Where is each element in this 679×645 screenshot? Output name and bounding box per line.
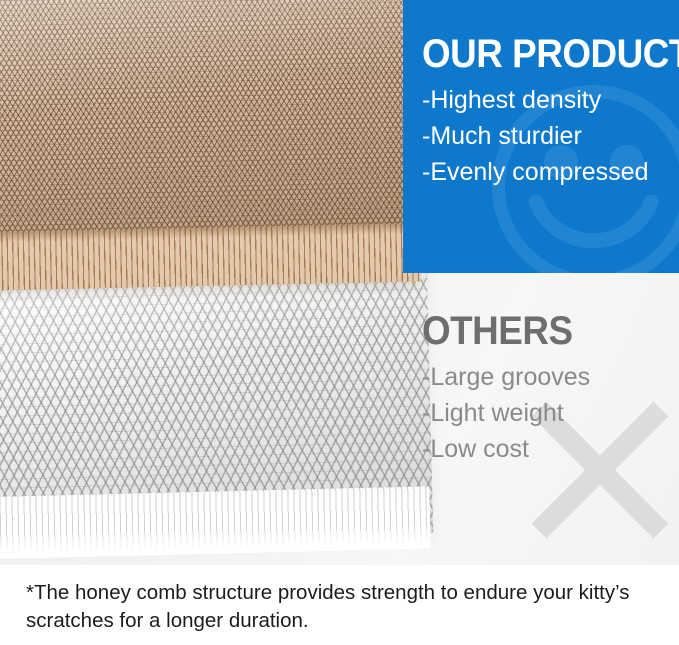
our-product-material-shading bbox=[0, 0, 423, 247]
our-product-text-block: OUR PRODUCT -Highest density -Much sturd… bbox=[422, 32, 671, 190]
product-photo-area: OUR PRODUCT -Highest density -Much sturd… bbox=[0, 0, 679, 565]
our-product-bullet: -Highest density bbox=[422, 82, 671, 118]
others-title: OTHERS bbox=[422, 309, 651, 353]
others-panel: OTHERS -Large grooves -Light weight -Low… bbox=[403, 273, 679, 565]
our-product-panel: OUR PRODUCT -Highest density -Much sturd… bbox=[403, 0, 679, 273]
others-bullet-list: -Large grooves -Light weight -Low cost bbox=[422, 359, 671, 467]
others-bullet: -Large grooves bbox=[422, 359, 671, 395]
our-product-bullet-list: -Highest density -Much sturdier -Evenly … bbox=[422, 82, 671, 190]
footer-caption-text: *The honey comb structure provides stren… bbox=[26, 579, 653, 635]
our-product-material-photo bbox=[0, 0, 423, 247]
others-bullet: -Light weight bbox=[422, 395, 671, 431]
footer-caption: *The honey comb structure provides stren… bbox=[0, 565, 679, 645]
others-text-block: OTHERS -Large grooves -Light weight -Low… bbox=[422, 309, 671, 467]
our-product-material-edge bbox=[0, 223, 421, 290]
others-material-edge bbox=[0, 486, 431, 559]
product-comparison-infographic: OUR PRODUCT -Highest density -Much sturd… bbox=[0, 0, 679, 645]
our-product-bullet: -Evenly compressed bbox=[422, 154, 671, 190]
our-product-bullet: -Much sturdier bbox=[422, 118, 671, 154]
our-product-title: OUR PRODUCT bbox=[422, 32, 651, 76]
others-bullet: -Low cost bbox=[422, 431, 671, 467]
